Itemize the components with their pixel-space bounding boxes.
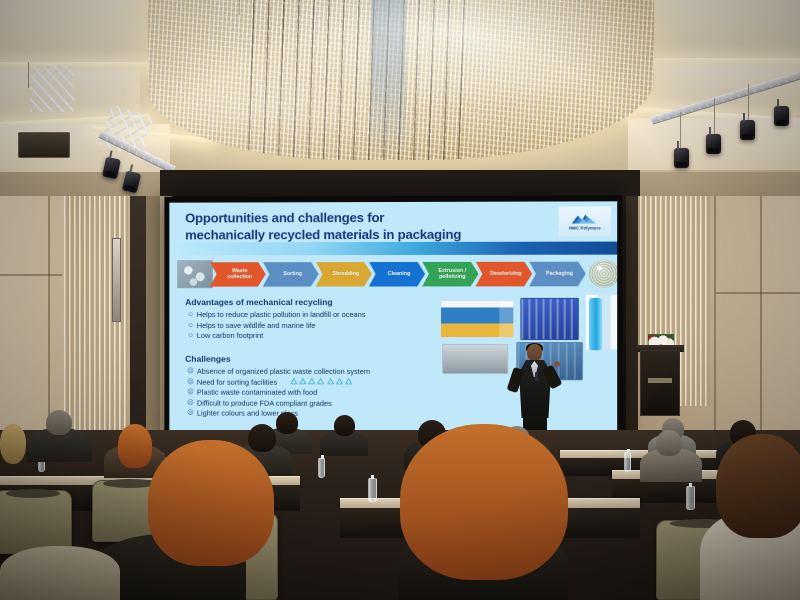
ceiling-wire — [748, 84, 749, 120]
resin-code-1-icon — [290, 377, 297, 384]
panel-seam — [0, 274, 62, 276]
resin-code-6-icon — [336, 377, 343, 384]
shredded-plastic-flakes-photo — [177, 260, 213, 288]
audience-member-head — [334, 415, 355, 436]
paint-buckets-photo — [440, 300, 514, 338]
ceiling-panel — [640, 0, 800, 58]
polymer-pellets-photo — [589, 260, 617, 288]
process-step-label: Waste collection — [223, 268, 252, 280]
process-step-packaging: Packaging — [529, 261, 586, 286]
frowning-face-icon: ☹ — [187, 409, 194, 419]
stage-spotlight — [774, 106, 789, 126]
audience-member-head — [148, 440, 274, 566]
ceiling-wire — [714, 98, 715, 134]
water-bottle — [686, 486, 695, 510]
process-step-label: Cleaning — [384, 271, 411, 277]
blue-bottle-photo — [589, 298, 602, 350]
presenter-head — [527, 344, 542, 361]
audience-member-head — [46, 410, 72, 435]
lectern — [640, 350, 680, 416]
smiley-face-icon: ☺ — [187, 321, 194, 331]
hmc-polymers-logo: HMC Polymers — [559, 206, 611, 236]
resin-code-5-icon — [327, 377, 334, 384]
smiley-face-icon: ☺ — [187, 310, 194, 320]
scissor-lift-projector-mount — [30, 66, 74, 112]
challenges-heading: Challenges — [185, 354, 230, 364]
process-step-waste-collection: Waste collection — [210, 262, 266, 287]
audience-member-body — [0, 546, 120, 600]
audience-member-head — [656, 430, 682, 456]
challenges-list: ☹Absence of organized plastic waste coll… — [187, 367, 370, 420]
frowning-face-icon: ☹ — [187, 388, 194, 398]
chandelier-sheen — [148, 0, 654, 160]
water-bottle — [368, 478, 377, 502]
list-item: ☹Absence of organized plastic waste coll… — [187, 367, 370, 378]
smiley-face-icon: ☺ — [187, 331, 194, 341]
process-step-label: Shredding — [329, 271, 360, 277]
resin-code-3-icon — [308, 377, 315, 384]
presenter-right-hand — [554, 361, 560, 367]
frowning-face-icon: ☹ — [187, 367, 194, 377]
process-step-label: Deodorizing — [486, 271, 521, 277]
advantages-heading: Advantages of mechanical recycling — [185, 297, 332, 307]
audience-member-head — [400, 424, 568, 580]
list-item: ☺Low carbon footprint — [187, 331, 365, 342]
process-step-label: Extrusion / pelletizing — [434, 268, 466, 280]
microphone — [535, 372, 538, 381]
recycling-process-chain: Waste collection Sorting Shredding Clean… — [177, 258, 617, 291]
frowning-face-icon: ☹ — [187, 398, 194, 408]
chair — [0, 490, 72, 554]
ceiling-wire — [680, 112, 681, 148]
audience-member-head — [118, 424, 152, 468]
resin-code-4-icon — [318, 377, 325, 384]
process-step-cleaning: Cleaning — [369, 261, 425, 286]
process-step-shredding: Shredding — [316, 262, 372, 287]
wall-sconce — [112, 238, 121, 322]
decorative-slat-panel — [64, 196, 128, 458]
cove-light — [0, 62, 160, 69]
conference-room-photo: Opportunities and challenges for mechani… — [0, 0, 800, 600]
process-step-sorting: Sorting — [263, 262, 319, 287]
resin-code-7-icon — [345, 377, 352, 384]
ceiling-projector — [18, 132, 70, 158]
cove-light — [636, 58, 800, 65]
frowning-face-icon: ☹ — [187, 377, 194, 387]
slide-title: Opportunities and challenges for mechani… — [185, 210, 514, 244]
mountain-wave-icon — [570, 212, 600, 225]
audience-member-head — [248, 424, 276, 452]
list-item: ☹Plastic waste contaminated with food — [187, 388, 370, 399]
process-step-label: Packaging — [542, 271, 573, 277]
ceiling-panel — [0, 0, 150, 62]
slide-title-line2: mechanically recycled materials in packa… — [185, 226, 514, 243]
crystal-chandelier — [148, 0, 654, 160]
audience-member-head — [276, 412, 298, 434]
slide-title-line1: Opportunities and challenges for — [185, 210, 514, 227]
panel-seam — [716, 292, 800, 294]
list-item: ☺Helps to reduce plastic pollution in la… — [187, 310, 365, 321]
podium-logo — [648, 378, 672, 383]
list-item: ☺Helps to save wildlife and marine life — [187, 321, 365, 332]
resin-code-icons — [290, 377, 352, 384]
stage-spotlight — [674, 148, 689, 168]
resin-code-2-icon — [299, 377, 306, 384]
process-step-label: Sorting — [279, 271, 302, 277]
process-step-deodorizing: Deodorizing — [476, 261, 533, 286]
stage-spotlight — [740, 120, 755, 140]
advantages-list: ☺Helps to reduce plastic pollution in la… — [187, 310, 365, 342]
water-bottle — [624, 452, 631, 472]
audience-member-head — [0, 424, 26, 464]
list-item: ☹ Need for sorting facilities — [187, 377, 370, 388]
list-item: ☹Difficult to produce FDA compliant grad… — [187, 398, 370, 409]
blue-crate-photo — [520, 298, 578, 340]
audience-member-head — [716, 434, 800, 538]
water-bottle — [318, 458, 325, 478]
logo-text: HMC Polymers — [569, 226, 601, 231]
slide-title-bar — [169, 242, 617, 256]
stage-spotlight — [706, 134, 721, 154]
process-step-extrusion-pelletizing: Extrusion / pelletizing — [422, 261, 478, 286]
ceiling-wire — [28, 62, 29, 88]
gray-bins-photo — [442, 344, 508, 374]
